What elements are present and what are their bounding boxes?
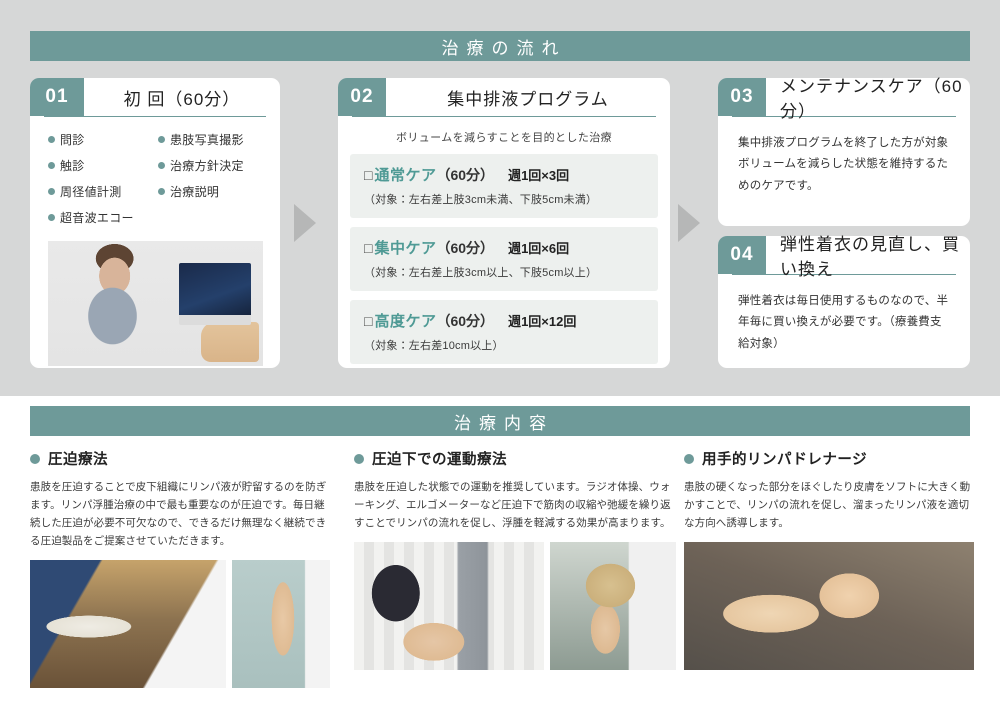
care-option-duration: （60分） [436, 238, 494, 258]
bullet-label: 患肢写真撮影 [170, 131, 244, 148]
card-04-title: 弾性着衣の見直し、買い換え [766, 236, 970, 274]
card-01-bullet-list: 問診 患肢写真撮影 触診 治療方針決定 周径値計測 治療説明 超音波エコー [30, 117, 280, 235]
bullet-dot-icon [158, 188, 165, 195]
bullet-label: 超音波エコー [60, 209, 134, 226]
bullet-dot-icon [30, 454, 40, 464]
flow-card-04: 04 弾性着衣の見直し、買い換え 弾性着衣は毎日使用するものなので、半年毎に買い… [718, 236, 970, 368]
flow-card-03: 03 メンテナンスケア（60分） 集中排液プログラムを終了した方が対象ボリューム… [718, 78, 970, 226]
list-item: 超音波エコー [48, 209, 158, 226]
list-item: 治療説明 [158, 183, 268, 200]
care-option-name: 高度ケア [374, 310, 436, 331]
list-item: 周径値計測 [48, 183, 158, 200]
care-option-frequency: 週1回×6回 [508, 238, 569, 257]
bullet-label: 治療方針決定 [170, 157, 244, 174]
care-option-intensive[interactable]: □ 集中ケア （60分） 週1回×6回 （対象：左右差上肢3cm以上、下肢5cm… [350, 227, 658, 291]
bullet-dot-icon [48, 214, 55, 221]
care-option-target: （対象：左右差上肢3cm未満、下肢5cm未満） [364, 191, 648, 207]
card-01-title: 初 回（60分） [84, 78, 280, 116]
compression-arm-photo [232, 560, 330, 688]
care-option-duration: （60分） [436, 311, 494, 331]
column-2-photos [354, 542, 676, 670]
checkbox-icon[interactable]: □ [364, 240, 372, 256]
card-02-rule [352, 116, 656, 117]
card-02-header: 02 集中排液プログラム [338, 78, 670, 116]
care-option-frequency: 週1回×12回 [508, 311, 576, 330]
card-02-title: 集中排液プログラム [386, 78, 670, 116]
bullet-dot-icon [48, 162, 55, 169]
card-02-subtitle: ボリュームを減らすことを目的とした治療 [338, 129, 670, 145]
manual-lymph-drainage-photo [684, 542, 974, 670]
content-column-exercise: 圧迫下での運動療法 患肢を圧迫した状態での運動を推奨しています。ラジオ体操、ウォ… [354, 448, 676, 670]
card-03-header: 03 メンテナンスケア（60分） [718, 78, 970, 116]
care-option-normal-headline: □ 通常ケア （60分） 週1回×3回 [364, 164, 648, 185]
card-01-number: 01 [30, 78, 84, 116]
list-item: 問診 [48, 131, 158, 148]
card-04-header: 04 弾性着衣の見直し、買い換え [718, 236, 970, 274]
care-option-normal[interactable]: □ 通常ケア （60分） 週1回×3回 （対象：左右差上肢3cm未満、下肢5cm… [350, 154, 658, 218]
compression-sleeve-fitting-photo [30, 560, 226, 688]
card-03-body: 集中排液プログラムを終了した方が対象ボリュームを減らした状態を維持するためのケア… [718, 117, 970, 197]
column-2-header: 圧迫下での運動療法 [354, 448, 676, 469]
flow-card-01: 01 初 回（60分） 問診 患肢写真撮影 触診 治療方針決定 周径値計測 治療… [30, 78, 280, 368]
bullet-dot-icon [48, 188, 55, 195]
column-1-photos [30, 560, 330, 688]
flow-card-02: 02 集中排液プログラム ボリュームを減らすことを目的とした治療 □ 通常ケア … [338, 78, 670, 368]
bullet-dot-icon [158, 136, 165, 143]
care-option-name: 集中ケア [374, 237, 436, 258]
bullet-label: 触診 [60, 157, 85, 174]
flow-section-banner: 治療の流れ [30, 31, 970, 61]
card-04-number: 04 [718, 236, 766, 274]
care-option-target: （対象：左右差上肢3cm以上、下肢5cm以上） [364, 264, 648, 280]
column-2-title: 圧迫下での運動療法 [372, 448, 507, 469]
column-3-photos [684, 542, 974, 670]
list-item: 治療方針決定 [158, 157, 268, 174]
ergometer-exercise-photo [354, 542, 544, 670]
content-section-banner: 治療内容 [30, 406, 970, 436]
care-option-duration: （60分） [436, 165, 494, 185]
card-02-number: 02 [338, 78, 386, 116]
column-3-text: 患肢の硬くなった部分をほぐしたり皮膚をソフトに大きく動かすことで、リンパの流れを… [684, 478, 974, 532]
care-option-name: 通常ケア [374, 164, 436, 185]
column-3-title: 用手的リンパドレナージ [702, 448, 867, 469]
content-section-title: 治療内容 [446, 409, 554, 434]
bullet-dot-icon [684, 454, 694, 464]
care-option-advanced-headline: □ 高度ケア （60分） 週1回×12回 [364, 310, 648, 331]
bullet-label: 周径値計測 [60, 183, 122, 200]
content-column-drainage: 用手的リンパドレナージ 患肢の硬くなった部分をほぐしたり皮膚をソフトに大きく動か… [684, 448, 974, 670]
list-item: 患肢写真撮影 [158, 131, 268, 148]
card-01-header: 01 初 回（60分） [30, 78, 280, 116]
bullet-dot-icon [48, 136, 55, 143]
column-1-header: 圧迫療法 [30, 448, 330, 469]
care-option-advanced[interactable]: □ 高度ケア （60分） 週1回×12回 （対象：左右差10cm以上） [350, 300, 658, 364]
flow-section-title: 治療の流れ [434, 34, 567, 59]
ultrasound-examination-photo [48, 241, 263, 366]
column-1-title: 圧迫療法 [48, 448, 108, 469]
bullet-label: 問診 [60, 131, 85, 148]
column-3-header: 用手的リンパドレナージ [684, 448, 974, 469]
column-1-text: 患肢を圧迫することで皮下組織にリンパ液が貯留するのを防ぎます。リンパ浮腫治療の中… [30, 478, 330, 550]
bullet-dot-icon [158, 162, 165, 169]
content-column-compression: 圧迫療法 患肢を圧迫することで皮下組織にリンパ液が貯留するのを防ぎます。リンパ浮… [30, 448, 330, 688]
care-option-intensive-headline: □ 集中ケア （60分） 週1回×6回 [364, 237, 648, 258]
card-03-title: メンテナンスケア（60分） [766, 78, 970, 116]
bullet-label: 治療説明 [170, 183, 219, 200]
leg-ergometer-photo [550, 542, 676, 670]
care-option-target: （対象：左右差10cm以上） [364, 337, 648, 353]
checkbox-icon[interactable]: □ [364, 167, 372, 183]
column-2-text: 患肢を圧迫した状態での運動を推奨しています。ラジオ体操、ウォーキング、エルゴメー… [354, 478, 676, 532]
care-option-frequency: 週1回×3回 [508, 165, 569, 184]
checkbox-icon[interactable]: □ [364, 313, 372, 329]
card-03-number: 03 [718, 78, 766, 116]
card-04-body: 弾性着衣は毎日使用するものなので、半年毎に買い換えが必要です。（療養費支給対象） [718, 275, 970, 355]
list-item: 触診 [48, 157, 158, 174]
flow-arrow-right-icon [294, 204, 316, 242]
bullet-dot-icon [354, 454, 364, 464]
flow-arrow-right-icon [678, 204, 700, 242]
